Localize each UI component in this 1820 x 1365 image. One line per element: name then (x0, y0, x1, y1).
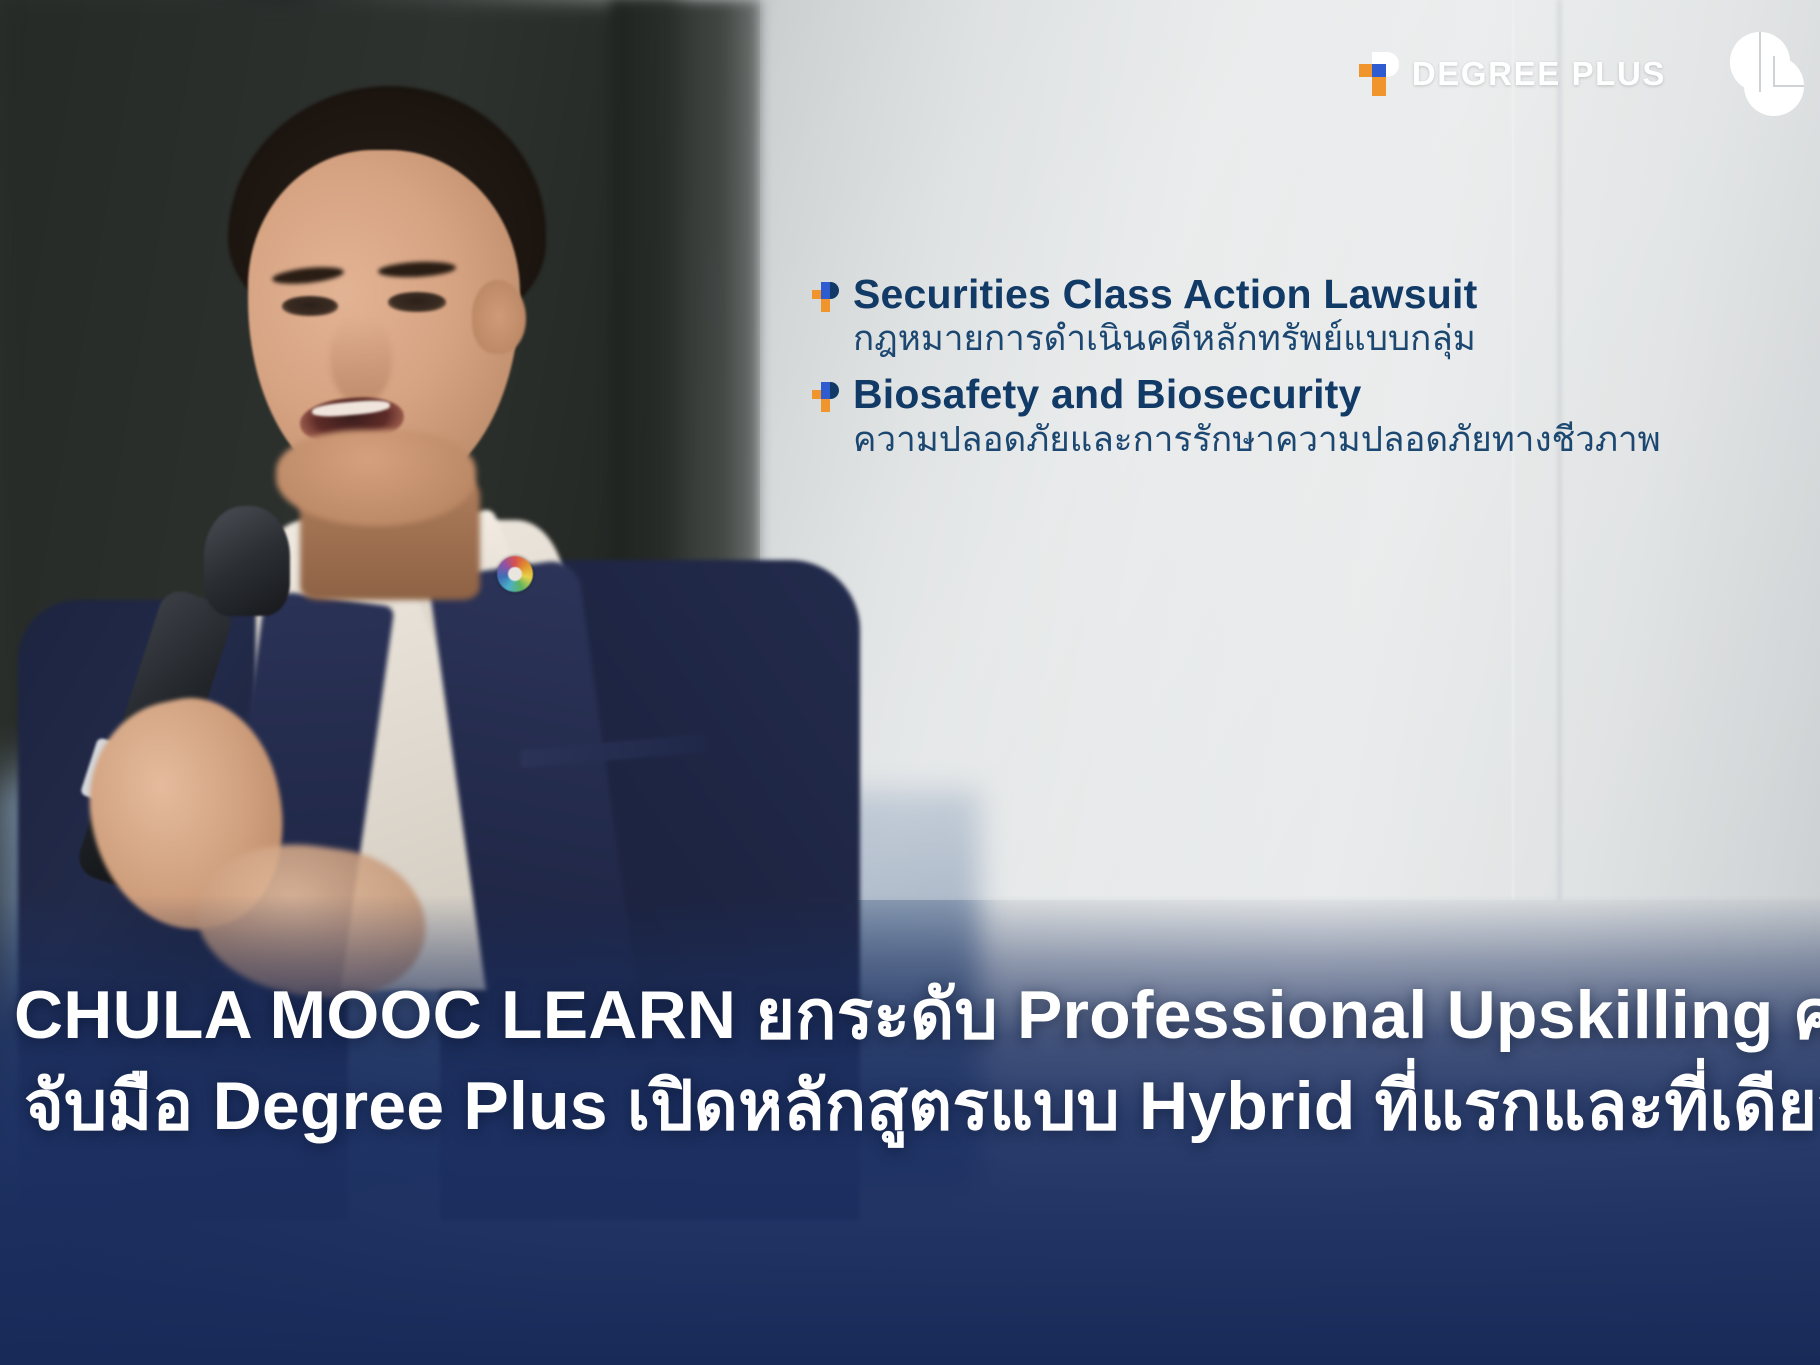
course-item[interactable]: Securities Class Action Lawsuit กฎหมายกา… (812, 272, 1820, 360)
promo-banner: DEGREE PLUS S (0, 0, 1820, 1365)
degree-plus-p-mark-icon (1359, 52, 1399, 96)
eye-right (388, 292, 446, 312)
course-heading-row: Biosafety and Biosecurity (812, 372, 1820, 416)
course-list: Securities Class Action Lawsuit กฎหมายกา… (812, 272, 1820, 473)
ear (472, 280, 526, 354)
course-title: Biosafety and Biosecurity (853, 372, 1362, 416)
eye-left (282, 296, 338, 316)
course-title: Securities Class Action Lawsuit (853, 272, 1477, 316)
sdg-lapel-pin-icon (497, 556, 533, 592)
course-item[interactable]: Biosafety and Biosecurity ความปลอดภัยและ… (812, 372, 1820, 460)
degree-plus-p-bullet-icon (812, 382, 839, 412)
brand-lockup: DEGREE PLUS (1359, 26, 1804, 122)
microphone-head (204, 506, 290, 616)
headline-line-1: CHULA MOOC LEARN ยกระดับ Professional Up… (14, 970, 1820, 1060)
degree-plus-brand: DEGREE PLUS (1359, 52, 1666, 96)
degree-plus-p-bullet-icon (812, 282, 839, 312)
headline-block: CHULA MOOC LEARN ยกระดับ Professional Up… (0, 970, 1820, 1151)
headline-line-2: จับมือ Degree Plus เปิดหลักสูตรแบบ Hybri… (24, 1061, 1820, 1151)
brand-name: DEGREE PLUS (1412, 55, 1666, 93)
course-heading-row: Securities Class Action Lawsuit (812, 272, 1820, 316)
course-subtitle: ความปลอดภัยและการรักษาความปลอดภัยทางชีวภ… (812, 419, 1820, 461)
chin (276, 430, 476, 526)
nose (330, 318, 392, 404)
course-subtitle: กฎหมายการดำเนินคดีหลักทรัพย์แบบกลุ่ม (812, 318, 1820, 360)
chula-double-circle-mark-icon (1712, 26, 1804, 122)
